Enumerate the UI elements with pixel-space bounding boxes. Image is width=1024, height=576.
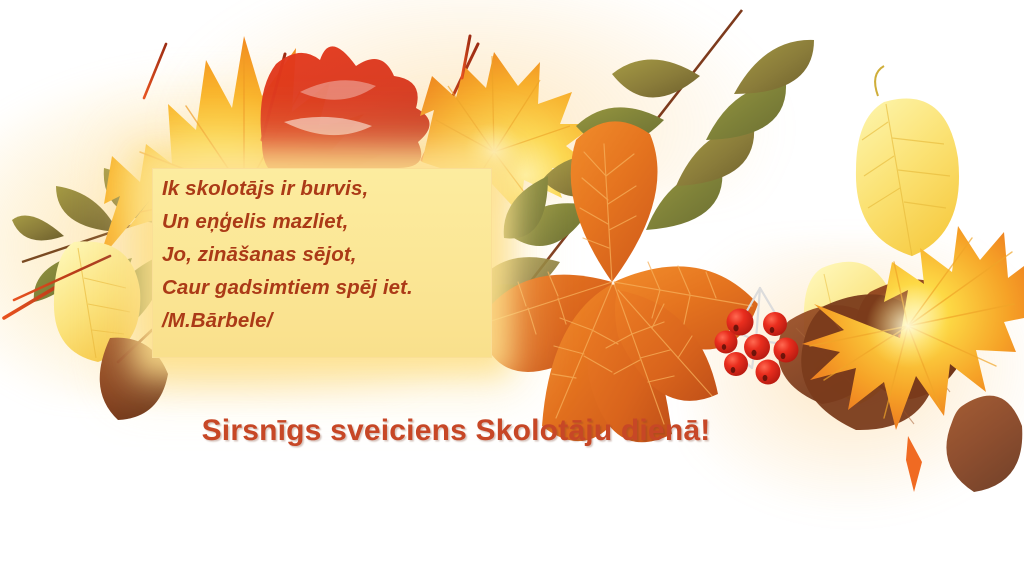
berry [756,360,781,385]
berry [744,334,770,360]
greeting-text: Sirsnīgs sveiciens Skolotāju dienā! [202,414,711,448]
quote-line-3: Jo, zināšanas sējot, [162,238,492,271]
quote-line-1: Ik skolotājs ir burvis, [162,172,492,205]
quote-text: Ik skolotājs ir burvis, Un eņģelis mazli… [162,172,492,337]
linden-leaf-pale-yellow-right [856,66,959,256]
quote-author: /M.Bārbele/ [162,304,492,337]
quote-line-4: Caur gadsimtiem spēj iet. [162,271,492,304]
berry [715,331,738,354]
berry [763,312,787,336]
berry [724,352,748,376]
greeting-headline: Sirsnīgs sveiciens Skolotāju dienā! [0,414,1024,448]
berry [774,338,799,363]
quote-line-2: Un eņģelis mazliet, [162,205,492,238]
greeting-card: Ik skolotājs ir burvis, Un eņģelis mazli… [0,0,1024,576]
